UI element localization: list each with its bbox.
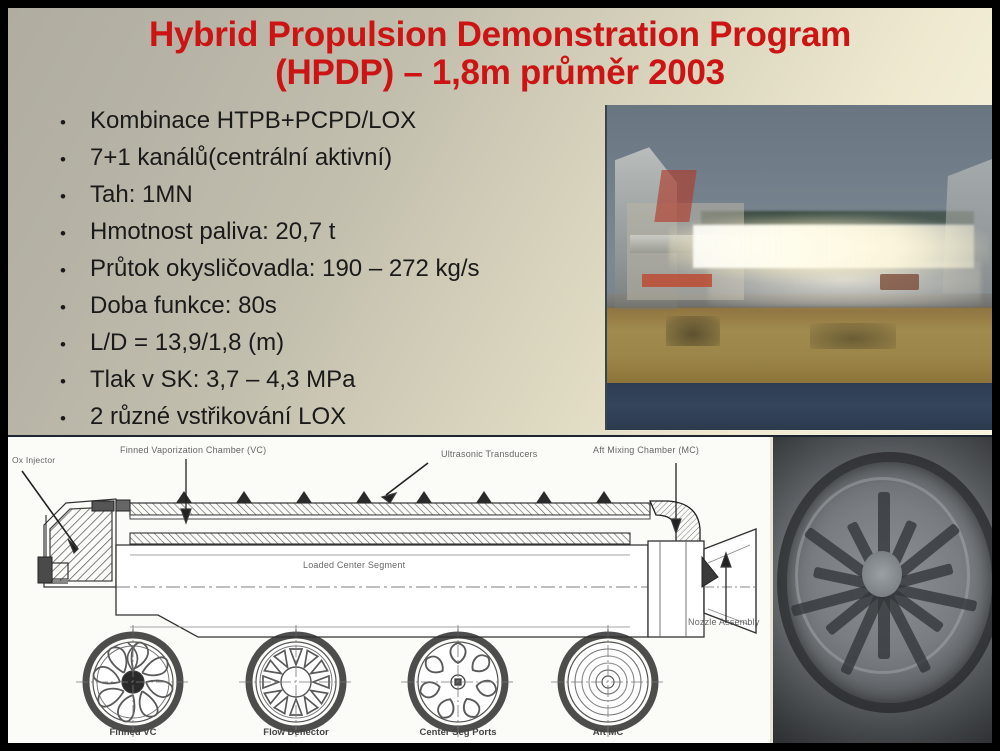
- slide-border-frame: [0, 0, 1000, 751]
- slide-root: Hybrid Propulsion Demonstration Program …: [0, 0, 1000, 751]
